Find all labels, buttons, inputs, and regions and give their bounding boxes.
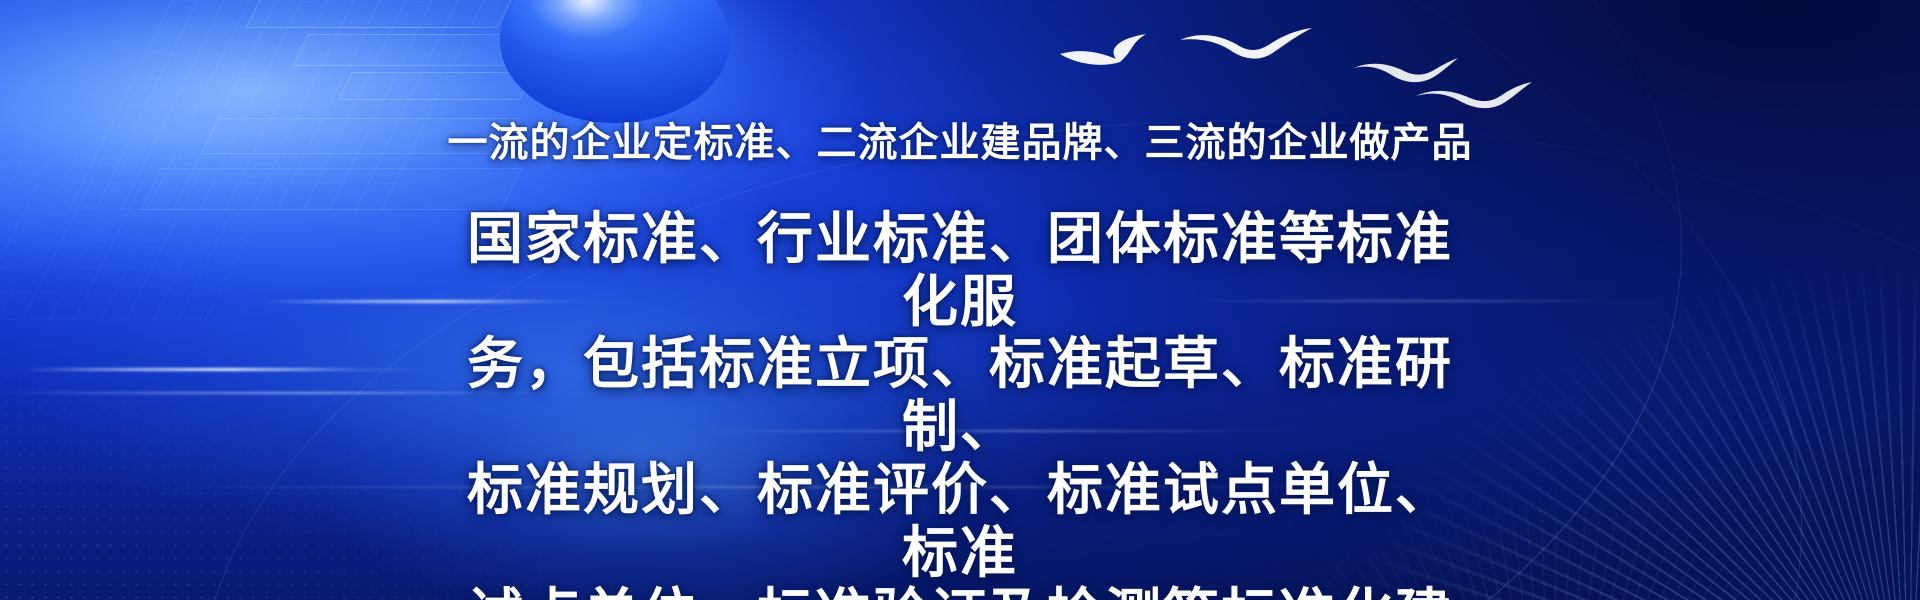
banner-body-line: 标准规划、标准评价、标准试点单位、标准 (440, 459, 1480, 584)
banner-body-line: 国家标准、行业标准、团体标准等标准化服 (440, 208, 1480, 333)
banner-headline: 一流的企业定标准、二流企业建品牌、三流的企业做产品 (448, 118, 1473, 168)
banner-content: 一流的企业定标准、二流企业建品牌、三流的企业做产品 国家标准、行业标准、团体标准… (0, 0, 1920, 600)
banner-body-copy: 国家标准、行业标准、团体标准等标准化服 务，包括标准立项、标准起草、标准研制、 … (440, 208, 1480, 600)
promo-banner: 一流的企业定标准、二流企业建品牌、三流的企业做产品 国家标准、行业标准、团体标准… (0, 0, 1920, 600)
banner-body-line: 务，包括标准立项、标准起草、标准研制、 (440, 333, 1480, 458)
banner-body-line: 试点单位、标准验证及检测等标准化建设 (440, 584, 1480, 600)
